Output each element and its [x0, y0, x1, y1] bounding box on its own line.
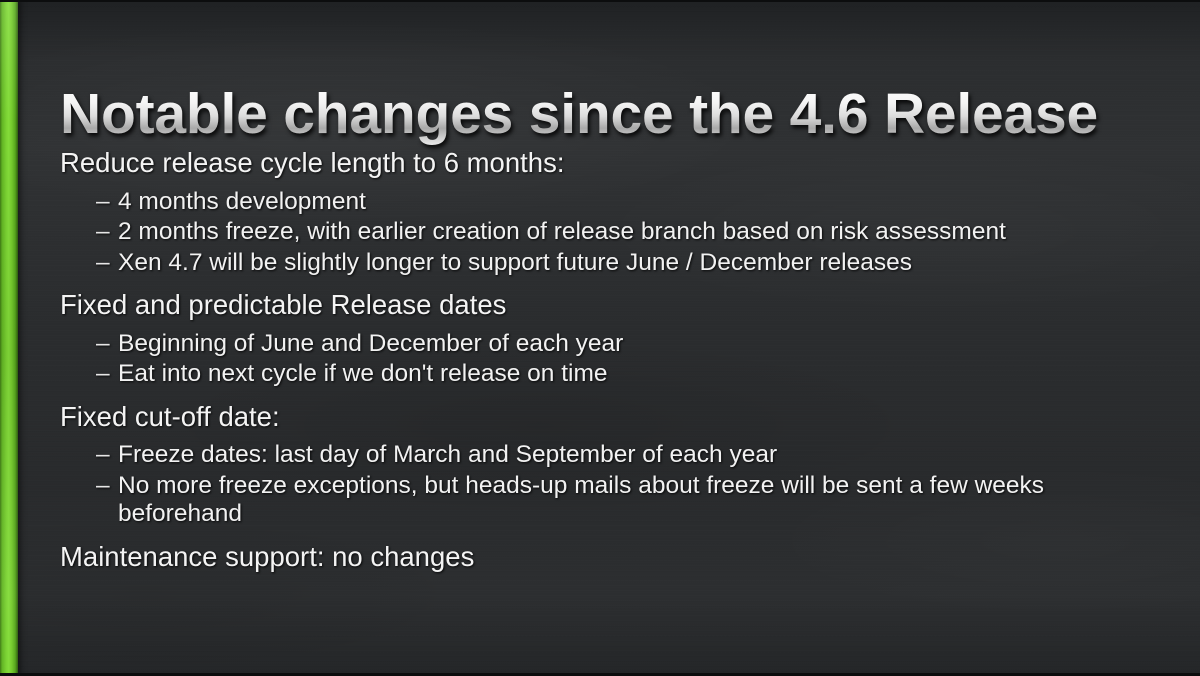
bullet-level1: Fixed and predictable Release dates: [60, 290, 1155, 321]
dash-icon: –: [96, 188, 118, 216]
accent-bar-sheen: [0, 0, 18, 676]
bullet-level2: – 2 months freeze, with earlier creation…: [60, 218, 1155, 246]
dash-icon: –: [96, 441, 118, 469]
bullet-level2-label: No more freeze exceptions, but heads-up …: [118, 472, 1155, 529]
dash-icon: –: [96, 218, 118, 246]
bullet-level2: – 4 months development: [60, 188, 1155, 216]
top-edge-rule: [0, 0, 1200, 2]
slide-content: Notable changes since the 4.6 Release Re…: [0, 0, 1200, 676]
left-green-accent-bar: [0, 0, 18, 676]
slide-title: Notable changes since the 4.6 Release: [60, 85, 1170, 145]
bullet-level2: – Freeze dates: last day of March and Se…: [60, 441, 1155, 469]
bullet-level1: Maintenance support: no changes: [60, 542, 1155, 573]
bullet-level2: – Eat into next cycle if we don't releas…: [60, 360, 1155, 388]
bullet-level2-label: Freeze dates: last day of March and Sept…: [118, 441, 1155, 469]
dash-icon: –: [96, 330, 118, 358]
bullet-level2-label: Eat into next cycle if we don't release …: [118, 360, 1155, 388]
bullet-group: Maintenance support: no changes: [60, 542, 1155, 573]
dash-icon: –: [96, 472, 118, 500]
bullet-level2: – Xen 4.7 will be slightly longer to sup…: [60, 249, 1155, 277]
bullet-group: Fixed cut-off date: – Freeze dates: last…: [60, 402, 1155, 529]
bullet-level1: Fixed cut-off date:: [60, 402, 1155, 433]
bullet-level2-label: 4 months development: [118, 188, 1155, 216]
presentation-slide: Notable changes since the 4.6 Release Re…: [0, 0, 1200, 676]
dash-icon: –: [96, 249, 118, 277]
slide-body-list: Reduce release cycle length to 6 months:…: [60, 148, 1155, 572]
bullet-level2-label: 2 months freeze, with earlier creation o…: [118, 218, 1155, 246]
bullet-level2-label: Beginning of June and December of each y…: [118, 330, 1155, 358]
bullet-group: Reduce release cycle length to 6 months:…: [60, 148, 1155, 277]
bullet-group: Fixed and predictable Release dates – Be…: [60, 290, 1155, 389]
bullet-level2-label: Xen 4.7 will be slightly longer to suppo…: [118, 249, 1155, 277]
bullet-level2: – Beginning of June and December of each…: [60, 330, 1155, 358]
dash-icon: –: [96, 360, 118, 388]
bullet-level2: – No more freeze exceptions, but heads-u…: [60, 472, 1155, 529]
bullet-level1: Reduce release cycle length to 6 months:: [60, 148, 1155, 179]
